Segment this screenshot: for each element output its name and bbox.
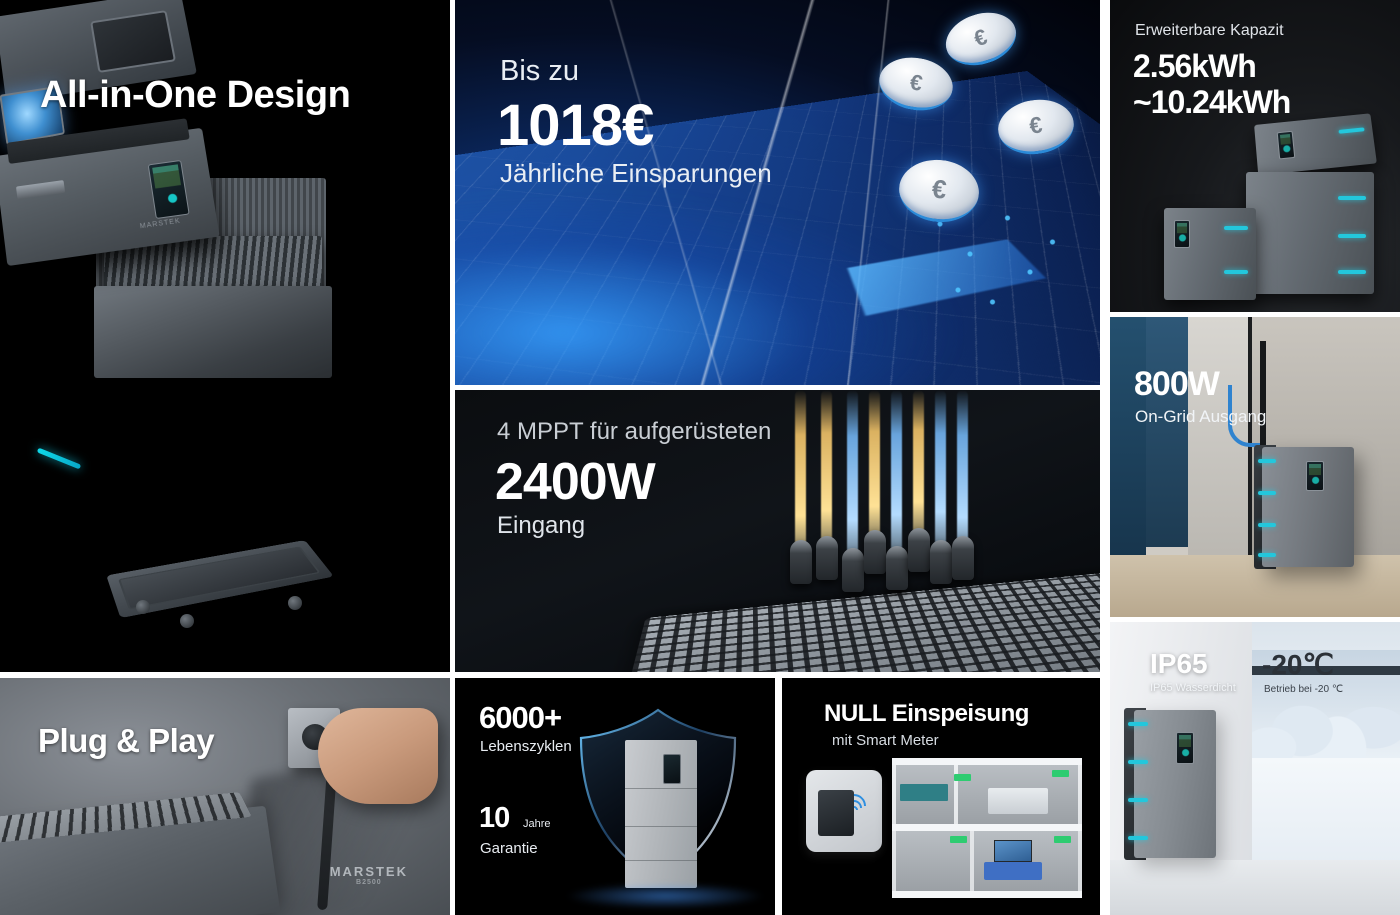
mppt-power-value: 2400W <box>495 452 655 512</box>
module-lcd-screen <box>1174 220 1190 248</box>
mc4-connector-icon <box>816 536 838 580</box>
output-power-value: 800W <box>1134 365 1219 404</box>
device-mid-plate-part <box>94 286 332 378</box>
smart-meter-card <box>806 770 882 852</box>
battery-stack-center <box>1246 172 1374 294</box>
module-cyan-accent <box>1224 270 1248 274</box>
mc4-connector-icon <box>886 546 908 590</box>
unit-cyan-accent <box>1128 798 1148 802</box>
panel-annual-savings: € € € € Bis zu 1018€ Jährliche Einsparun… <box>455 0 1100 385</box>
unit-cyan-accent <box>1128 836 1148 840</box>
plug-and-play-title: Plug & Play <box>38 722 214 760</box>
interior-floor <box>1110 860 1400 915</box>
warranty-years-value: 10 <box>479 802 509 835</box>
savings-amount-value: 1018€ <box>497 92 653 159</box>
module-cyan-accent <box>1224 226 1248 230</box>
light-beam-yellow <box>913 390 924 550</box>
room-wall-left-blue-dark <box>1110 317 1146 575</box>
product-feature-collage: MARSTEK All-in-One Design € € € € Bis zu… <box>0 0 1400 915</box>
device-handle <box>16 180 65 199</box>
light-beam-blue <box>891 390 902 568</box>
savings-caption-label: Jährliche Einsparungen <box>500 158 772 189</box>
status-badge-green <box>1052 770 1069 777</box>
mc4-connector-icon <box>952 536 974 580</box>
brand-name: MARSTEK <box>330 864 408 879</box>
zero-feed-subtitle: mit Smart Meter <box>832 732 939 749</box>
capacity-max-value: ~10.24kWh <box>1133 84 1290 121</box>
unit-cyan-accent <box>1258 459 1276 463</box>
unit-cyan-accent <box>1128 760 1148 764</box>
battery-stack-left <box>1164 208 1256 300</box>
all-in-one-title: All-in-One Design <box>40 74 350 117</box>
module-lcd-screen <box>1277 131 1296 160</box>
warranty-label: Garantie <box>480 840 538 857</box>
module-cyan-accent <box>1338 234 1366 238</box>
battery-module-top <box>1254 113 1377 175</box>
panel-mppt-input: 4 MPPT für aufgerüsteten 2400W Eingang <box>455 390 1100 672</box>
snow-ground <box>1252 758 1400 862</box>
status-badge-green <box>954 774 971 781</box>
panel-zero-feed-in: NULL Einspeisung mit Smart Meter <box>782 678 1100 915</box>
caster-wheel-icon <box>180 614 194 628</box>
blue-base-glow <box>565 883 765 909</box>
temperature-value: -20℃ <box>1262 648 1334 681</box>
savings-prefix-label: Bis zu <box>500 55 579 88</box>
module-cyan-accent <box>1338 196 1366 200</box>
ip-rating-value: IP65 <box>1150 648 1208 680</box>
mc4-connector-icon <box>864 530 886 574</box>
panel-ip65-temperature: IP65 IP65 Wasserdicht -20℃ Betrieb bei -… <box>1110 622 1400 915</box>
panel-all-in-one-design: MARSTEK All-in-One Design <box>0 0 450 672</box>
cyan-accent-line <box>37 448 82 470</box>
warranty-years-unit: Jahre <box>523 818 551 830</box>
battery-stack-unit <box>1262 447 1354 567</box>
unit-lcd-screen <box>1306 461 1324 491</box>
ip-rating-caption: IP65 Wasserdicht <box>1150 682 1236 694</box>
mc4-connector-icon <box>908 528 930 572</box>
mc4-connector-icon <box>930 540 952 584</box>
panel-lifecycle-warranty: 6000+ Lebenszyklen 10 Jahre Garantie <box>455 678 775 915</box>
unit-cyan-accent <box>1128 722 1148 726</box>
wifi-signal-icon <box>848 792 874 818</box>
unit-cyan-accent <box>1258 491 1276 495</box>
device-brand-mark: MARSTEK <box>140 218 182 231</box>
marstek-device <box>0 806 280 915</box>
unit-lcd-screen <box>1176 732 1194 764</box>
panel-on-grid-output: 800W On-Grid Ausgang <box>1110 317 1400 617</box>
capacity-label: Erweiterbare Kapazit <box>1135 22 1284 40</box>
brand-model: B2500 <box>330 879 408 886</box>
temperature-caption: Betrieb bei -20 ℃ <box>1264 684 1343 695</box>
mppt-caption-label: Eingang <box>497 512 585 540</box>
house-cutaway-illustration <box>892 758 1082 898</box>
battery-stack-unit <box>625 740 697 888</box>
unit-lcd-screen <box>663 754 681 784</box>
panel-expandable-capacity: Erweiterbare Kapazit 2.56kWh ~10.24kWh <box>1110 0 1400 312</box>
lifecycle-count-label: Lebenszyklen <box>480 738 572 755</box>
status-badge-green <box>950 836 967 843</box>
mc4-connector-icon <box>790 540 812 584</box>
capacity-min-value: 2.56kWh <box>1133 48 1256 85</box>
mc4-connector-icon <box>842 548 864 592</box>
mppt-prefix-label: 4 MPPT für aufgerüsteten <box>497 418 771 446</box>
device-brand-label: MARSTEK B2500 <box>330 864 408 886</box>
status-badge-green <box>1054 836 1071 843</box>
caster-wheel-icon <box>288 596 302 610</box>
zero-feed-title: NULL Einspeisung <box>824 700 1029 728</box>
output-caption-label: On-Grid Ausgang <box>1135 407 1266 427</box>
lifecycle-count-value: 6000+ <box>479 700 561 736</box>
module-cyan-accent <box>1338 270 1366 274</box>
hand-holding-plug <box>318 708 438 804</box>
panel-plug-and-play: Plug & Play MARSTEK B2500 <box>0 678 450 915</box>
device-lcd-screen <box>148 160 190 219</box>
module-cyan-accent <box>1338 127 1364 133</box>
unit-cyan-accent <box>1258 523 1276 527</box>
light-beam-blue <box>935 390 946 564</box>
caster-wheel-icon <box>136 600 150 614</box>
unit-cyan-accent <box>1258 553 1276 557</box>
black-conduit <box>1260 341 1266 451</box>
